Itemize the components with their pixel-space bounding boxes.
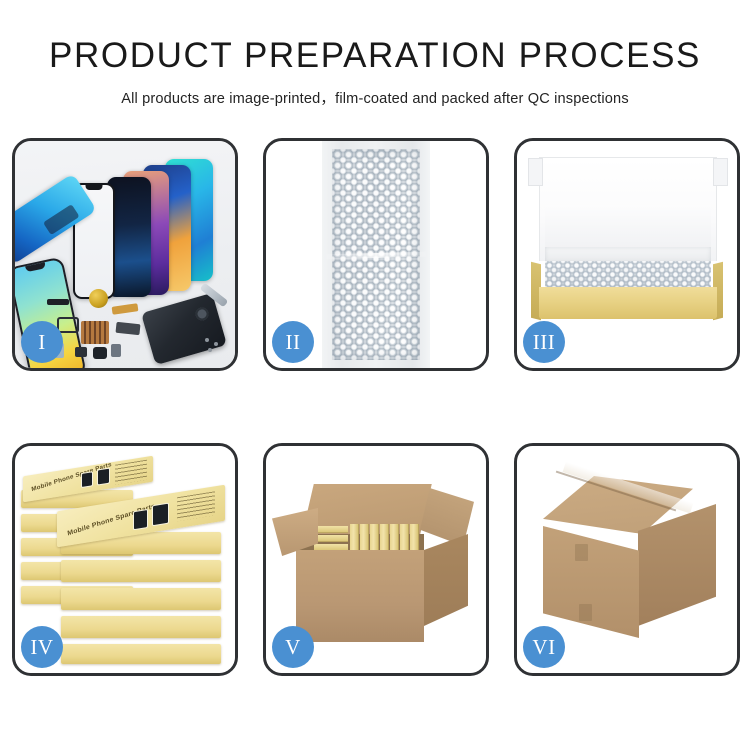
page-subtitle: All products are image-printed，film-coat… bbox=[0, 87, 750, 108]
mailer-bubble-contents bbox=[545, 261, 711, 289]
retail-box-phone-image-a bbox=[81, 471, 93, 488]
earpiece-part-icon bbox=[47, 299, 69, 305]
retail-box-front-2 bbox=[61, 560, 221, 582]
retail-box-spec-lines-front bbox=[177, 491, 215, 521]
inner-box-lay-1 bbox=[314, 526, 348, 533]
retail-box-front-4 bbox=[61, 616, 221, 638]
page-title: PRODUCT PREPARATION PROCESS bbox=[0, 36, 750, 76]
retail-box-phone-image-d bbox=[152, 503, 169, 527]
small-part-icon bbox=[111, 344, 121, 357]
retail-box-front-3 bbox=[61, 588, 221, 610]
copper-grid-part-icon bbox=[81, 321, 109, 344]
step-panel-5[interactable]: V bbox=[263, 443, 489, 676]
step-badge-3: III bbox=[523, 321, 565, 363]
mailer-box-interior bbox=[545, 205, 711, 253]
step-panel-4[interactable]: Mobile Phone Spare Parts Mobile Phone Sp… bbox=[12, 443, 238, 676]
carton-tab-upper bbox=[575, 544, 588, 561]
speaker-part-icon bbox=[89, 289, 108, 308]
screws-icon bbox=[205, 338, 225, 354]
header: PRODUCT PREPARATION PROCESS All products… bbox=[0, 36, 750, 108]
step-badge-2: II bbox=[272, 321, 314, 363]
product-preparation-infographic: PRODUCT PREPARATION PROCESS All products… bbox=[0, 0, 750, 750]
button-part-icon bbox=[75, 347, 87, 357]
step-badge-4: IV bbox=[21, 626, 63, 668]
process-steps-grid: I II III bbox=[12, 138, 740, 676]
camera-module-part-icon bbox=[93, 347, 107, 359]
step-badge-1: I bbox=[21, 321, 63, 363]
step-panel-3[interactable]: III bbox=[514, 138, 740, 371]
step-badge-5: V bbox=[272, 626, 314, 668]
step-panel-6[interactable]: VI bbox=[514, 443, 740, 676]
retail-box-phone-image-b bbox=[97, 468, 110, 486]
carton-front-face bbox=[296, 550, 424, 642]
step-badge-6: VI bbox=[523, 626, 565, 668]
retail-box-spec-lines-rear bbox=[115, 460, 147, 485]
step-panel-1[interactable]: I bbox=[12, 138, 238, 371]
retail-box-front-5 bbox=[61, 644, 221, 664]
carton-tab-lower bbox=[579, 604, 592, 621]
inner-box-lay-2 bbox=[314, 535, 348, 542]
retail-box-phone-image-c bbox=[133, 509, 148, 530]
connector-part-icon bbox=[115, 322, 140, 335]
mailer-box-front-kraft bbox=[539, 287, 717, 319]
step-panel-2[interactable]: II bbox=[263, 138, 489, 371]
flex-cable-part-icon bbox=[57, 317, 79, 333]
